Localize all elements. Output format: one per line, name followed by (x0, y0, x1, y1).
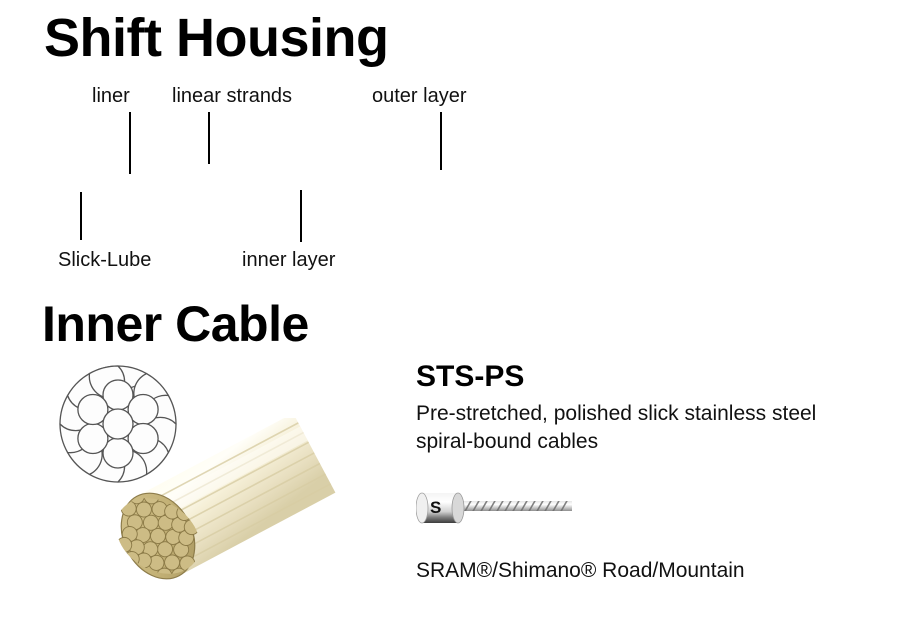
callout-label-liner: liner (92, 84, 130, 108)
cable-end-fitting-illustration: S (416, 487, 596, 529)
cable-body (110, 418, 339, 598)
callout-label-slick-lube: Slick-Lube (58, 248, 151, 272)
page-title-inner-cable: Inner Cable (42, 296, 309, 352)
cable-3d-illustration (110, 418, 340, 598)
housing-cutaway-illustration: LEX-SL HOUSING (0, 130, 900, 245)
page-title-shift-housing: Shift Housing (44, 8, 388, 68)
callout-label-linear-strands: linear strands (172, 84, 292, 108)
product-code-heading: STS-PS (416, 360, 524, 394)
end-cap-marking-text: S (430, 498, 441, 517)
product-description: Pre-stretched, polished slick stainless … (416, 400, 846, 456)
callout-label-inner-layer: inner layer (242, 248, 335, 272)
compatibility-caption: SRAM®/Shimano® Road/Mountain (416, 558, 745, 584)
callout-label-outer-layer: outer layer (372, 84, 467, 108)
diagram-canvas: Shift Housing liner linear strands outer… (0, 0, 900, 625)
